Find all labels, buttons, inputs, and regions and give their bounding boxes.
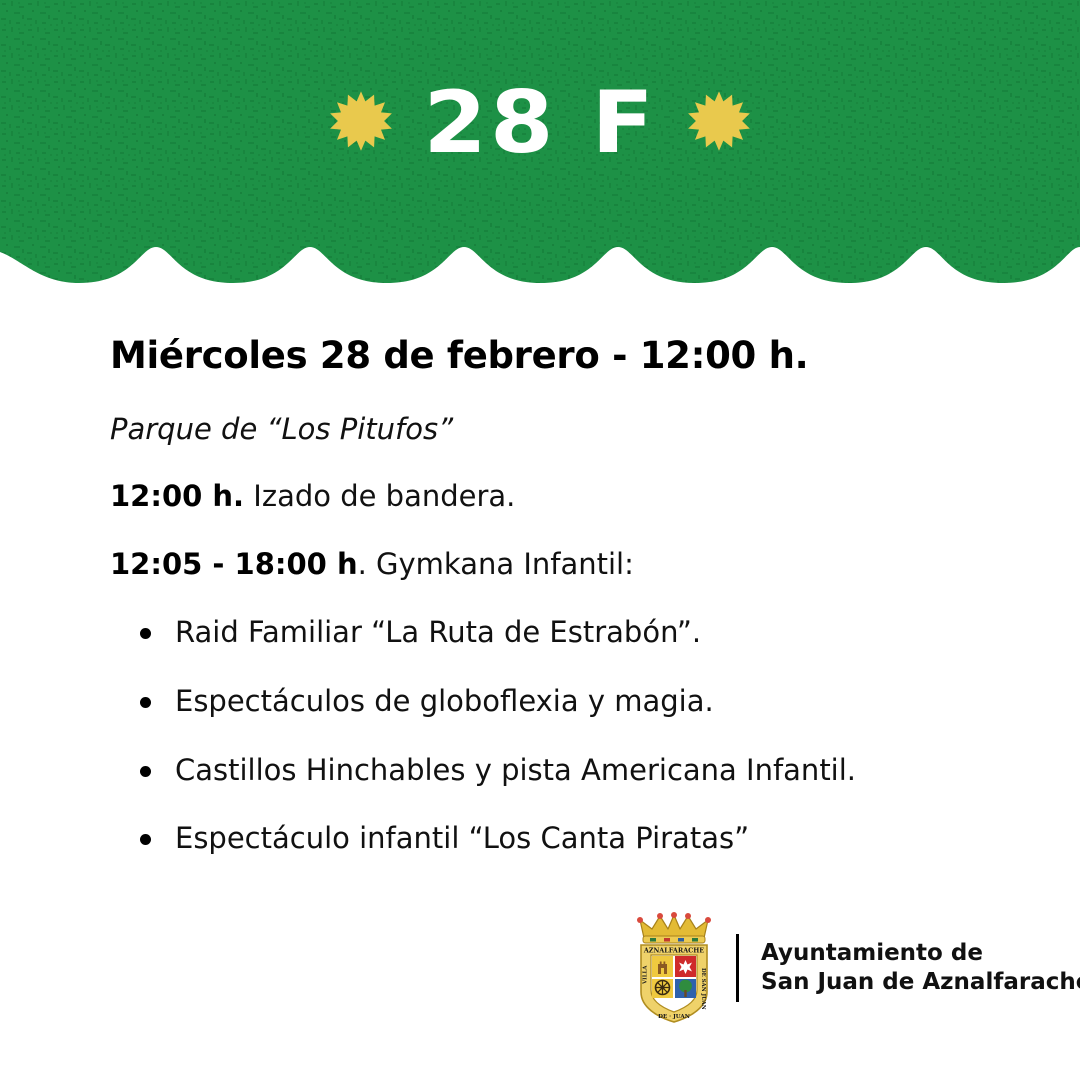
list-item-label: Raid Familiar “La Ruta de Estrabón”. <box>175 615 701 649</box>
main-content: Miércoles 28 de febrero - 12:00 h. Parqu… <box>110 334 990 856</box>
schedule-description: . Gymkana Infantil: <box>358 547 634 581</box>
wheel-icon <box>652 979 673 998</box>
schedule-time: 12:05 - 18:00 h <box>110 547 358 581</box>
list-item: Espectáculos de globoflexia y magia. <box>140 684 990 719</box>
bullet-icon <box>140 834 151 845</box>
sun-icon <box>686 90 752 156</box>
list-item-label: Espectáculo infantil “Los Canta Piratas” <box>175 821 749 855</box>
activity-list: Raid Familiar “La Ruta de Estrabón”. Esp… <box>110 615 990 856</box>
list-item: Espectáculo infantil “Los Canta Piratas” <box>140 821 990 856</box>
crest-bottom-motto: DE · JUAN <box>658 1014 690 1020</box>
tree-icon <box>675 979 696 998</box>
header-band: 28 F <box>0 0 1080 300</box>
header-content: 28 F <box>0 0 1080 245</box>
event-location: Parque de “Los Pitufos” <box>110 412 990 447</box>
poster-root: 28 F Miércoles 28 de febrero - 12:00 h. … <box>0 0 1080 1080</box>
footer: AZNALFARACHE VILLA DE SAN JUAN DE · JUAN <box>630 912 1080 1024</box>
sun-icon <box>328 90 394 156</box>
maltese-cross-icon <box>675 956 696 977</box>
schedule-entry: 12:00 h. Izado de bandera. <box>110 479 990 514</box>
bullet-icon <box>140 766 151 777</box>
bullet-icon <box>140 628 151 639</box>
list-item-label: Castillos Hinchables y pista Americana I… <box>175 753 856 787</box>
list-item: Castillos Hinchables y pista Americana I… <box>140 753 990 788</box>
crest-left-motto: VILLA <box>643 965 649 985</box>
schedule-time: 12:00 h. <box>110 479 244 513</box>
list-item: Raid Familiar “La Ruta de Estrabón”. <box>140 615 990 650</box>
organization-line-2: San Juan de Aznalfarache <box>761 968 1080 997</box>
schedule-description: Izado de bandera. <box>244 479 515 513</box>
crest-right-motto: DE SAN JUAN <box>700 968 706 1010</box>
organization-name: Ayuntamiento de San Juan de Aznalfarache <box>761 939 1080 997</box>
footer-divider <box>736 934 739 1002</box>
header-title: 28 F <box>423 80 657 166</box>
schedule-entry: 12:05 - 18:00 h. Gymkana Infantil: <box>110 547 990 582</box>
coat-of-arms-icon: AZNALFARACHE VILLA DE SAN JUAN DE · JUAN <box>630 912 718 1024</box>
bullet-icon <box>140 697 151 708</box>
organization-line-1: Ayuntamiento de <box>761 939 1080 968</box>
castle-tower-icon <box>652 956 673 977</box>
list-item-label: Espectáculos de globoflexia y magia. <box>175 684 714 718</box>
page-title: Miércoles 28 de febrero - 12:00 h. <box>110 334 990 378</box>
crown-icon <box>637 912 711 943</box>
crest-top-motto: AZNALFARACHE <box>643 947 704 955</box>
